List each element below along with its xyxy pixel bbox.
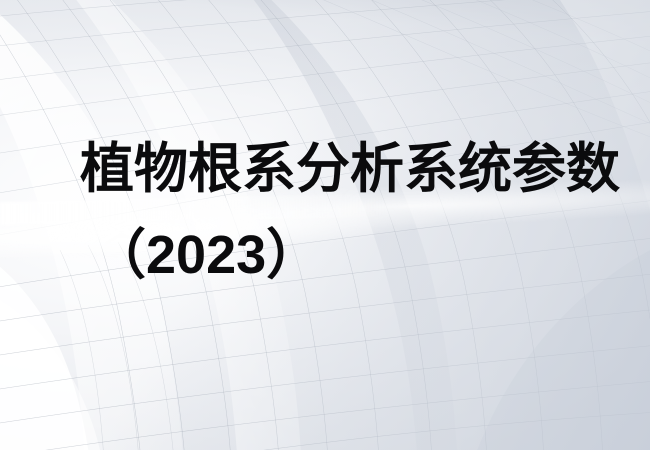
title-block: 植物根系分析系统参数 （2023） bbox=[0, 0, 650, 450]
title-slide: 植物根系分析系统参数 （2023） bbox=[0, 0, 650, 450]
slide-title-year: （2023） bbox=[92, 226, 320, 284]
slide-title-primary: 植物根系分析系统参数 bbox=[80, 140, 620, 198]
